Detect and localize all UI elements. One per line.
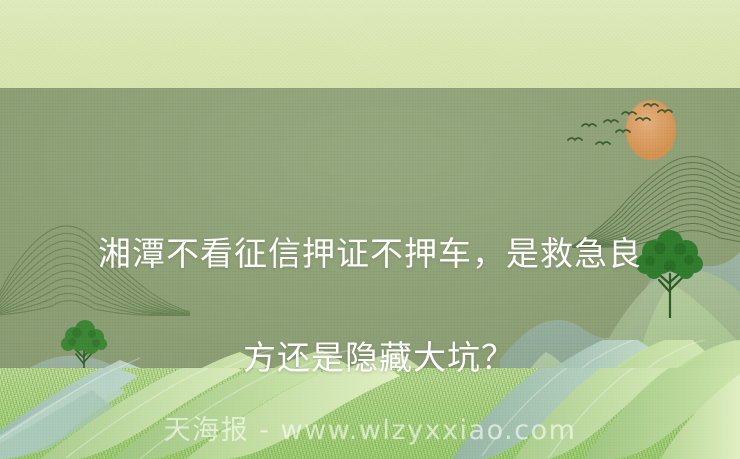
poster-canvas: 湘潭不看征信押证不押车，是救急良 方还是隐藏大坑？ 天海报 - www.wlzy… <box>0 0 740 459</box>
watermark-text: 天海报 - www.wlzyxxiao.com <box>0 408 740 447</box>
headline-line-1: 湘潭不看征信押证不押车，是救急良 <box>0 228 740 280</box>
poster-headline: 湘潭不看征信押证不押车，是救急良 方还是隐藏大坑？ <box>0 176 740 436</box>
headline-line-2: 方还是隐藏大坑？ <box>0 332 740 384</box>
